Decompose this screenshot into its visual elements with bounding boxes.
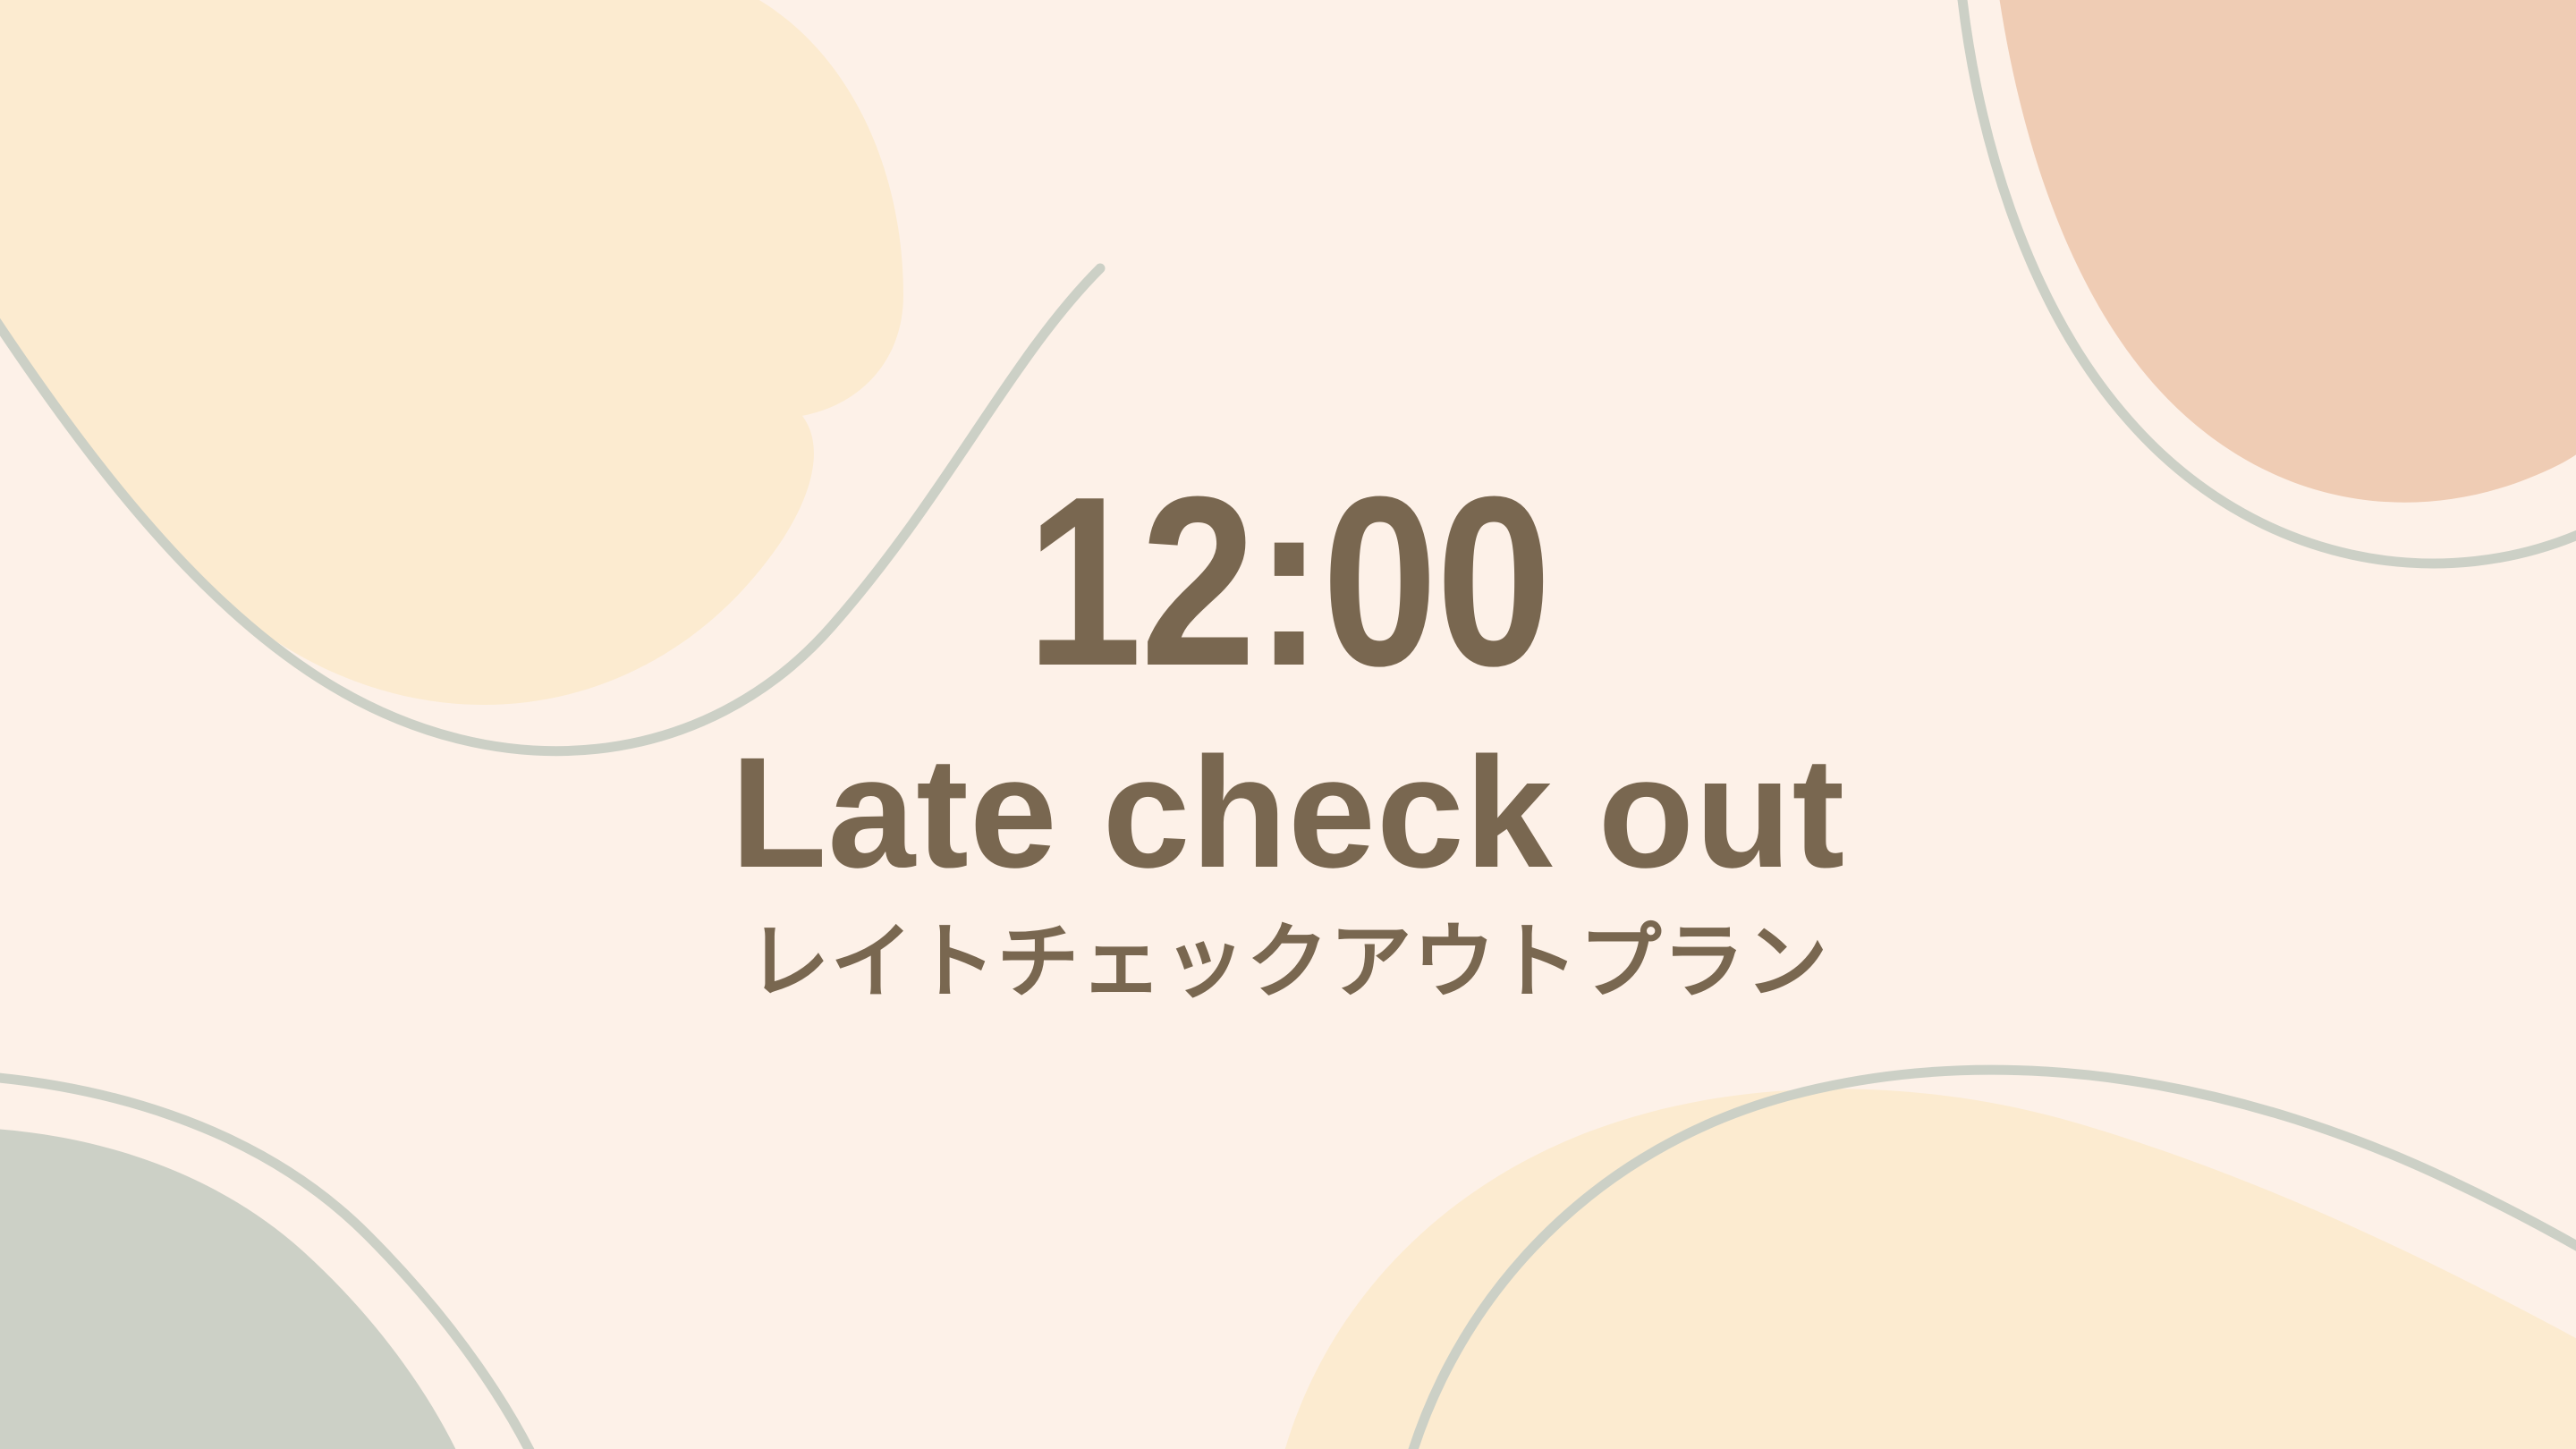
- late-checkout-banner: 12:00 Late check out レイトチェックアウトプラン: [0, 0, 2576, 1449]
- page-subtitle-japanese: レイトチェックアウトプラン: [747, 917, 1828, 1007]
- page-title: Late check out: [731, 733, 1845, 894]
- banner-content: 12:00 Late check out レイトチェックアウトプラン: [0, 0, 2576, 1449]
- checkout-time: 12:00: [1026, 464, 1549, 701]
